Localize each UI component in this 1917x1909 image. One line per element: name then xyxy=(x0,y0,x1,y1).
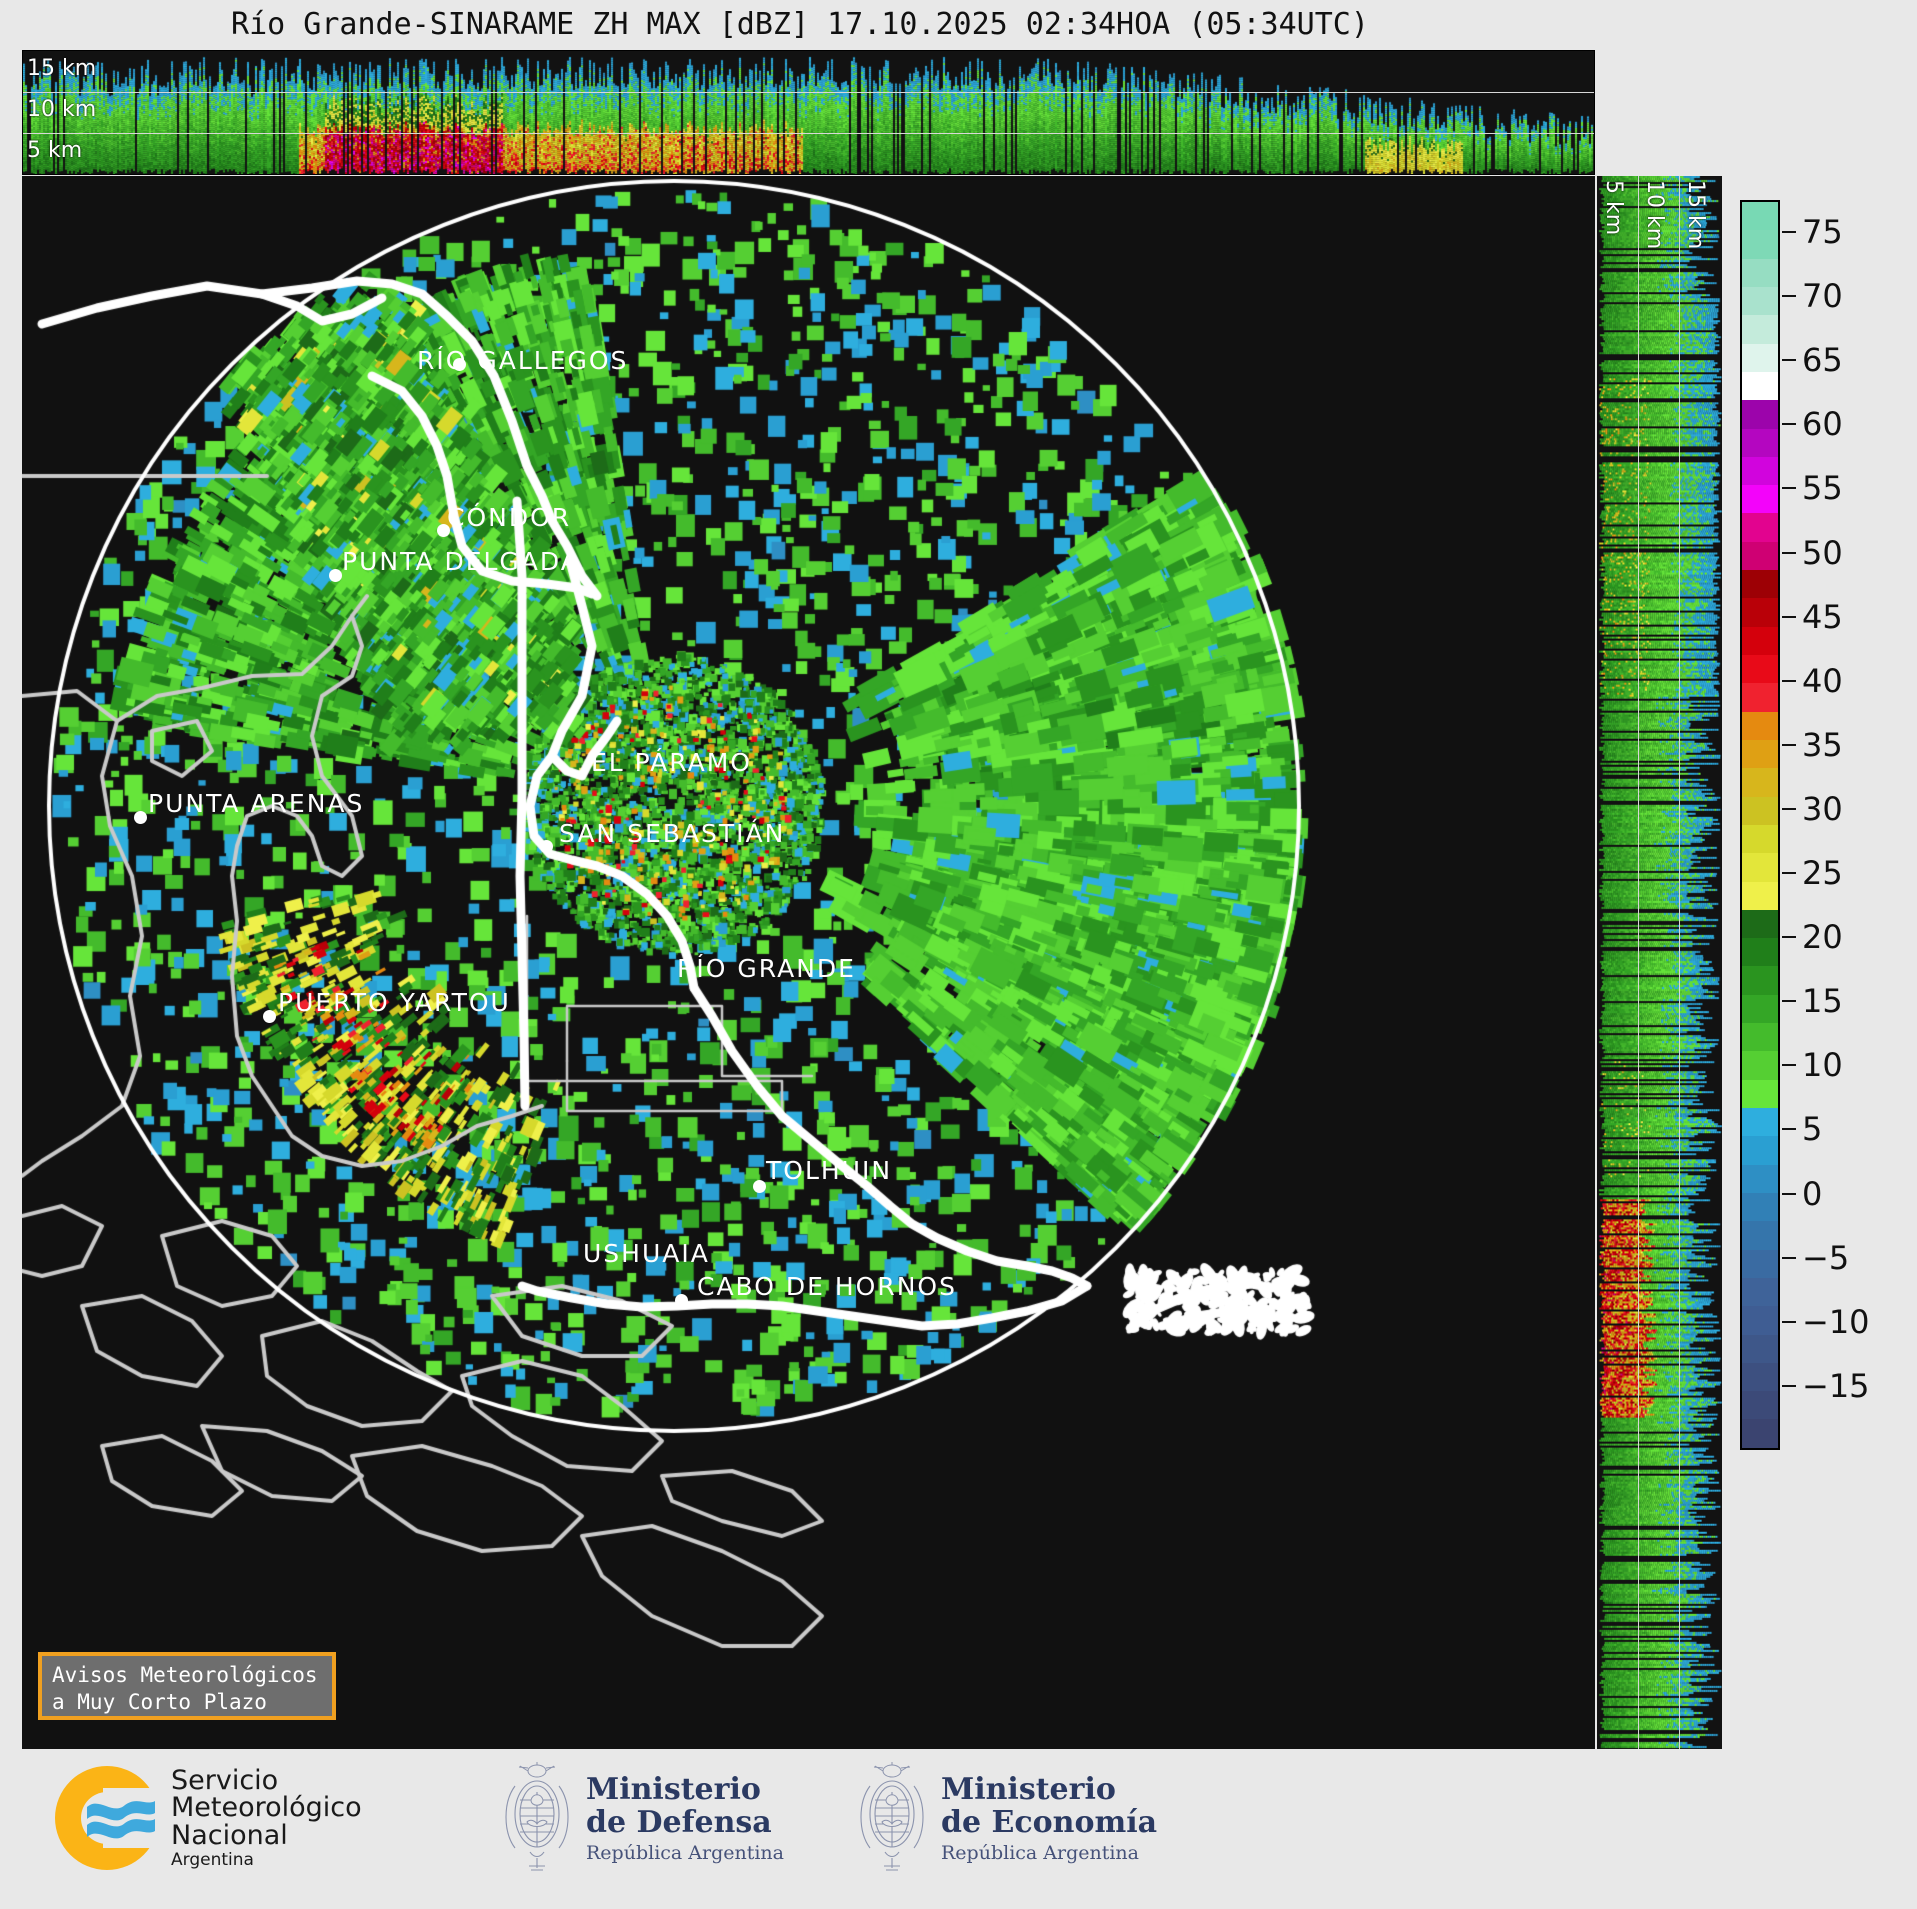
logo-ministerio-de-defensa: Ministerio de Defensa República Argentin… xyxy=(500,1762,784,1876)
logo-ministerio-de-economia: Ministerio de Economía República Argenti… xyxy=(855,1762,1157,1876)
colorbar-tick xyxy=(1782,295,1796,297)
colorbar-segment xyxy=(1742,853,1778,881)
city-marker-tolhuin xyxy=(753,1180,766,1193)
xsecr-label-15km: 15 km xyxy=(1683,180,1708,249)
colorbar-segment xyxy=(1742,1335,1778,1363)
smn-wave-icon xyxy=(85,1794,157,1842)
defensa-line3: República Argentina xyxy=(586,1843,784,1864)
economia-line2: de Economía xyxy=(941,1807,1157,1839)
colorbar-segment xyxy=(1742,740,1778,768)
city-marker-cabo-de-hornos xyxy=(675,1294,688,1307)
colorbar-tick xyxy=(1782,231,1796,233)
defensa-line1: Ministerio xyxy=(586,1774,784,1806)
colorbar-tick-label: 40 xyxy=(1802,662,1843,700)
colorbar-segment xyxy=(1742,797,1778,825)
city-label-rio-grande: RÍO GRANDE xyxy=(677,954,856,983)
city-marker-puerto-yartou xyxy=(263,1010,276,1023)
footer-logos: Servicio Meteorológico Nacional Argentin… xyxy=(0,1752,1917,1909)
city-marker-punta-arenas xyxy=(134,811,147,824)
colorbar-segment xyxy=(1742,542,1778,570)
city-label-tolhuin: TOLHUIN xyxy=(766,1156,892,1185)
colorbar-segment xyxy=(1742,287,1778,315)
colorbar-segment xyxy=(1742,202,1778,230)
colorbar-segment xyxy=(1742,570,1778,598)
colorbar-segment xyxy=(1742,1108,1778,1136)
colorbar-tick xyxy=(1782,359,1796,361)
argentina-crest-icon xyxy=(855,1762,929,1876)
colorbar-tick-label: 50 xyxy=(1802,534,1843,572)
city-label-cabo-de-hornos: CABO DE HORNOS xyxy=(697,1272,957,1301)
colorbar-tick-label: 45 xyxy=(1802,598,1843,636)
colorbar-segment xyxy=(1742,344,1778,372)
logo-servicio-meteorologico-nacional: Servicio Meteorológico Nacional Argentin… xyxy=(55,1766,362,1870)
colorbar-segment xyxy=(1742,1023,1778,1051)
colorbar-gradient xyxy=(1740,200,1780,1450)
colorbar-segment xyxy=(1742,1306,1778,1334)
warning-badge-line2: a Muy Corto Plazo xyxy=(52,1689,322,1716)
city-label-ushuaia: USHUAIA xyxy=(583,1239,710,1268)
colorbar-segment xyxy=(1742,910,1778,938)
smn-emblem-icon xyxy=(55,1766,159,1870)
argentina-crest-icon xyxy=(500,1762,574,1876)
colorbar-segment xyxy=(1742,882,1778,910)
colorbar-tick-label: 20 xyxy=(1802,918,1843,956)
colorbar-tick xyxy=(1782,1385,1796,1387)
radar-ppi-map[interactable]: RÍO GALLEGOS CÓNDOR PUNTA DELGADA EL PÁR… xyxy=(22,176,1595,1749)
colorbar-tick-label: 30 xyxy=(1802,790,1843,828)
colorbar-segment xyxy=(1742,315,1778,343)
colorbar-tick-label: 5 xyxy=(1802,1110,1822,1148)
colorbar-segment xyxy=(1742,457,1778,485)
smn-line2: Meteorológico xyxy=(171,1794,362,1822)
colorbar-segment xyxy=(1742,230,1778,258)
xsecr-label-5km: 5 km xyxy=(1601,180,1626,235)
colorbar: 757065605550454035302520151050−5−10−15 xyxy=(1740,200,1910,1450)
colorbar-segment xyxy=(1742,372,1778,400)
colorbar-segment xyxy=(1742,1419,1778,1447)
city-label-puerto-yartou: PUERTO YARTOU xyxy=(278,988,511,1017)
colorbar-tick xyxy=(1782,552,1796,554)
colorbar-segment xyxy=(1742,1136,1778,1164)
city-label-san-sebastian: SAN SEBASTIÁN xyxy=(559,819,785,848)
colorbar-tick xyxy=(1782,487,1796,489)
economia-line3: República Argentina xyxy=(941,1843,1157,1864)
xsecr-label-10km: 10 km xyxy=(1642,180,1667,249)
colorbar-tick-label: 70 xyxy=(1802,277,1843,315)
top-cross-section-panel: 15 km 10 km 5 km xyxy=(22,50,1595,175)
colorbar-tick xyxy=(1782,1064,1796,1066)
colorbar-segment xyxy=(1742,1165,1778,1193)
colorbar-tick xyxy=(1782,680,1796,682)
colorbar-segment xyxy=(1742,995,1778,1023)
colorbar-tick xyxy=(1782,872,1796,874)
colorbar-segment xyxy=(1742,485,1778,513)
top-cross-section-canvas xyxy=(23,51,1594,174)
colorbar-tick-label: 35 xyxy=(1802,726,1843,764)
colorbar-segment xyxy=(1742,655,1778,683)
colorbar-tick xyxy=(1782,616,1796,618)
colorbar-segment xyxy=(1742,1363,1778,1391)
smn-line4: Argentina xyxy=(171,1852,362,1869)
colorbar-segment xyxy=(1742,429,1778,457)
colorbar-segment xyxy=(1742,259,1778,287)
xsec-label-5km: 5 km xyxy=(27,138,82,163)
colorbar-segment xyxy=(1742,938,1778,966)
colorbar-tick xyxy=(1782,744,1796,746)
warning-badge[interactable]: Avisos Meteorológicos a Muy Corto Plazo xyxy=(38,1652,336,1720)
colorbar-tick-label: 55 xyxy=(1802,469,1843,507)
colorbar-tick xyxy=(1782,1128,1796,1130)
smn-line1: Servicio xyxy=(171,1767,362,1795)
colorbar-segment xyxy=(1742,1051,1778,1079)
colorbar-tick-label: 65 xyxy=(1802,341,1843,379)
economia-line1: Ministerio xyxy=(941,1774,1157,1806)
colorbar-segment xyxy=(1742,966,1778,994)
colorbar-tick-label: 15 xyxy=(1802,982,1843,1020)
colorbar-tick-label: 10 xyxy=(1802,1046,1843,1084)
colorbar-tick-label: 75 xyxy=(1802,213,1843,251)
colorbar-tick-label: −15 xyxy=(1802,1367,1870,1405)
xsec-gridline-5km xyxy=(23,133,1594,134)
city-marker-punta-delgada xyxy=(329,569,342,582)
colorbar-segment xyxy=(1742,400,1778,428)
xsecr-gridline-15km xyxy=(1679,176,1680,1749)
colorbar-tick xyxy=(1782,936,1796,938)
colorbar-segment xyxy=(1742,1221,1778,1249)
city-label-punta-delgada: PUNTA DELGADA xyxy=(342,547,580,576)
right-cross-section-panel: 5 km 10 km 15 km xyxy=(1597,176,1722,1749)
xsec-label-15km: 15 km xyxy=(27,56,96,81)
right-cross-section-canvas xyxy=(1597,176,1722,1749)
colorbar-tick-label: −10 xyxy=(1802,1303,1870,1341)
colorbar-segment xyxy=(1742,712,1778,740)
city-label-condor: CÓNDOR xyxy=(447,503,571,532)
colorbar-tick-label: 0 xyxy=(1802,1175,1822,1213)
colorbar-tick xyxy=(1782,423,1796,425)
colorbar-segment xyxy=(1742,1080,1778,1108)
colorbar-tick xyxy=(1782,1193,1796,1195)
page-title: Río Grande-SINARAME ZH MAX [dBZ] 17.10.2… xyxy=(0,4,1600,46)
colorbar-segment xyxy=(1742,1278,1778,1306)
colorbar-segment xyxy=(1742,513,1778,541)
city-label-rio-gallegos: RÍO GALLEGOS xyxy=(417,346,628,375)
colorbar-segment xyxy=(1742,1250,1778,1278)
colorbar-tick-label: 25 xyxy=(1802,854,1843,892)
colorbar-segment xyxy=(1742,1193,1778,1221)
colorbar-segment xyxy=(1742,825,1778,853)
xsecr-gridline-10km xyxy=(1638,176,1639,1749)
colorbar-tick xyxy=(1782,1321,1796,1323)
warning-badge-line1: Avisos Meteorológicos xyxy=(52,1662,322,1689)
city-marker-san-sebastian xyxy=(540,840,553,853)
colorbar-segment xyxy=(1742,683,1778,711)
city-label-punta-arenas: PUNTA ARENAS xyxy=(148,789,364,818)
colorbar-tick xyxy=(1782,1257,1796,1259)
colorbar-tick-label: −5 xyxy=(1802,1239,1849,1277)
defensa-line2: de Defensa xyxy=(586,1807,784,1839)
xsec-label-10km: 10 km xyxy=(27,97,96,122)
colorbar-tick-label: 60 xyxy=(1802,405,1843,443)
city-label-el-paramo: EL PÁRAMO xyxy=(591,748,752,777)
colorbar-segment xyxy=(1742,598,1778,626)
colorbar-segment xyxy=(1742,627,1778,655)
colorbar-tick xyxy=(1782,808,1796,810)
smn-line3: Nacional xyxy=(171,1822,362,1850)
colorbar-tick xyxy=(1782,1000,1796,1002)
colorbar-segment xyxy=(1742,768,1778,796)
xsec-gridline-10km xyxy=(23,92,1594,93)
colorbar-segment xyxy=(1742,1391,1778,1419)
